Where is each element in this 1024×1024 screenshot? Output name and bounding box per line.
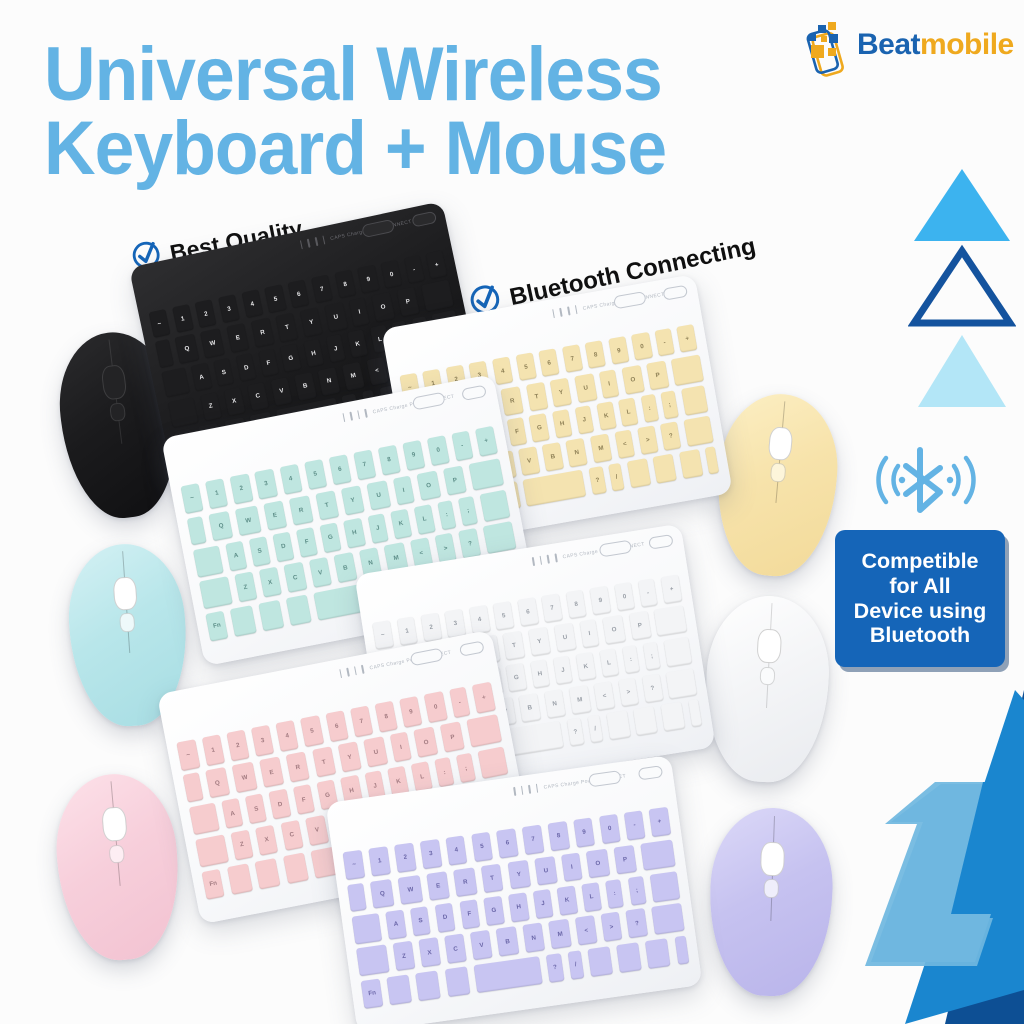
keyboard-key: 7 — [541, 593, 563, 623]
keyboard-key: 0 — [614, 582, 636, 612]
keyboard-key: R — [285, 752, 310, 783]
keyboard-key: Y — [337, 742, 362, 773]
keyboard-key: A — [225, 541, 247, 572]
keyboard-key — [230, 605, 256, 636]
keyboard-key: T — [526, 382, 548, 411]
keyboard-key: B — [294, 372, 317, 401]
keyboard-key: U — [324, 302, 348, 331]
keyboard-key: G — [483, 896, 505, 926]
keyboard-key: L — [599, 648, 619, 677]
keyboard-key: P — [396, 287, 419, 316]
keyboard-key: D — [236, 353, 258, 382]
keyboard-key — [193, 545, 223, 577]
keyboard-key: I — [393, 475, 415, 506]
keyboard-key — [478, 746, 509, 778]
keyboard-key: V — [270, 377, 293, 406]
keyboard-key: F — [296, 527, 318, 557]
keyboard-key: > — [637, 425, 658, 454]
keyboard-key: < — [594, 681, 615, 711]
keyboard-key: : — [434, 757, 454, 787]
keyboard-key — [688, 699, 703, 727]
keyboard-key: 5 — [493, 601, 515, 631]
keyboard-key: 2 — [226, 730, 249, 761]
keyboard-key: G — [280, 343, 302, 372]
keyboard-key — [654, 605, 688, 636]
keyboard-key: 7 — [353, 450, 376, 481]
keyboard-key: C — [280, 820, 304, 851]
keyboard-key: > — [601, 912, 623, 942]
keyboard-key: ; — [643, 642, 662, 671]
keyboard-key: Q — [209, 510, 234, 541]
keyboard-key: V — [518, 446, 540, 475]
keyboard-key — [671, 354, 704, 385]
keyboard-key — [653, 454, 677, 484]
keyboard-key: 1 — [205, 478, 228, 509]
mouse-purple — [707, 806, 835, 998]
keyboard-key: / — [609, 463, 625, 491]
keyboard-key: 7 — [522, 825, 544, 855]
keyboard-key: T — [276, 313, 299, 342]
keyboard-key: M — [568, 685, 591, 715]
keyboard-key: < — [366, 356, 388, 385]
keyboard-key: K — [575, 652, 596, 681]
keyboard-key: - — [624, 811, 645, 841]
keyboard-key: M — [590, 434, 613, 463]
keyboard-key: Y — [341, 485, 365, 516]
keyboard-key — [705, 446, 719, 474]
keyboard-key — [183, 772, 203, 802]
keyboard-key — [606, 711, 631, 741]
keyboard-key: 9 — [399, 696, 422, 727]
keyboard-key: A — [191, 363, 213, 392]
keyboard-key: ; — [661, 390, 679, 419]
keyboard-key: 9 — [608, 336, 629, 365]
keyboard-key: N — [543, 689, 565, 719]
keyboard-key: 3 — [420, 839, 442, 869]
mouse-white — [701, 593, 833, 785]
keyboard-key: + — [426, 250, 448, 279]
keyboard-key: 9 — [590, 586, 612, 616]
keyboard-key: S — [213, 358, 234, 387]
keyboard-key — [416, 970, 442, 1001]
keyboard-key: Y — [528, 627, 551, 657]
keyboard-key: 0 — [424, 692, 447, 723]
keyboard-key: S — [249, 536, 271, 567]
keyboard-key: U — [534, 856, 558, 886]
keyboard-key: D — [434, 903, 455, 933]
keyboard-key: F — [258, 348, 279, 377]
keyboard-key — [616, 942, 642, 973]
keyboard-key: Fn — [205, 611, 228, 642]
keyboard-key: H — [303, 339, 325, 368]
keyboard-key: 3 — [218, 294, 240, 323]
keyboard-key — [286, 594, 312, 625]
keyboard-key — [187, 516, 207, 546]
keyboard-key — [660, 702, 685, 732]
keyboard-key: B — [519, 693, 541, 723]
keyboard-key: ? — [546, 953, 565, 983]
keyboard-key: C — [444, 934, 467, 964]
triangle-outline-dark — [914, 251, 1010, 323]
keyboard-key: S — [410, 906, 431, 936]
keyboard-key: J — [325, 334, 346, 363]
keyboard-key: K — [596, 401, 617, 430]
keyboard-key — [357, 945, 390, 977]
keyboard-key: 4 — [279, 464, 302, 495]
keyboard-key: G — [319, 522, 342, 553]
compatibility-callout-box: Competible for All Device using Bluetoot… — [835, 530, 1005, 667]
keyboard-key — [640, 839, 675, 871]
keyboard-key: J — [533, 889, 553, 919]
triangle-solid-pale — [918, 335, 1006, 407]
keyboard-key: E — [263, 500, 287, 531]
keyboard-key: 5 — [300, 716, 323, 747]
keyboard-key — [645, 938, 671, 969]
keyboard-key: ~ — [343, 850, 365, 880]
keyboard-key: A — [385, 910, 406, 940]
keyboard-key — [587, 946, 613, 977]
keyboard-key: 3 — [255, 469, 278, 500]
keyboard-purple: CAPS Charge Power CONNECT ~1234567890-+Q… — [326, 755, 703, 1024]
keyboard-key: G — [529, 413, 550, 442]
keyboard-key: J — [367, 513, 388, 543]
keyboard-key: 1 — [369, 846, 391, 876]
keyboard-key — [664, 637, 693, 668]
keyboard-key: ~ — [177, 740, 200, 771]
keyboard-key: O — [414, 727, 439, 758]
keyboard-key: 5 — [264, 284, 286, 313]
keyboard-key — [167, 397, 198, 428]
keyboard-key — [155, 339, 174, 368]
keyboard-key: B — [334, 553, 358, 584]
phone-pixels-logo-icon — [795, 12, 861, 78]
keyboard-key: 4 — [445, 835, 467, 865]
keyboard-key: ? — [566, 718, 584, 747]
keyboard-key: C — [283, 562, 307, 593]
keyboard-key: Q — [205, 767, 230, 798]
keyboard-key: ~ — [181, 483, 204, 514]
keyboard-key: T — [503, 631, 526, 661]
keyboard-key — [254, 857, 280, 889]
keyboard-key: 7 — [350, 706, 373, 737]
corner-chevron-decoration — [845, 690, 1024, 1024]
keyboard-key: S — [245, 793, 267, 824]
keyboard-key: W — [398, 875, 423, 906]
keyboard-key: Z — [234, 572, 257, 603]
keyboard-key — [258, 600, 284, 631]
keyboard-key: W — [235, 505, 261, 536]
keyboard-key: O — [416, 470, 441, 501]
keyboard-key: Fn — [202, 868, 225, 899]
keyboard-key: + — [475, 426, 498, 457]
keyboard-key — [679, 449, 703, 479]
keyboard-key: T — [481, 863, 504, 893]
keyboard-key — [352, 913, 382, 944]
keyboard-key: Fn — [361, 978, 383, 1008]
keyboard-key: X — [418, 938, 441, 968]
keyboard-key: F — [459, 899, 480, 929]
keyboard-key — [684, 416, 715, 447]
keyboard-key: M — [342, 361, 366, 390]
keyboard-key: Y — [300, 308, 323, 337]
keyboard-key: X — [255, 825, 278, 856]
keyboard-key — [473, 956, 542, 993]
keyboard-key: N — [522, 923, 545, 953]
keyboard-key: V — [309, 557, 332, 588]
keyboard-key: B — [542, 442, 564, 471]
bluetooth-signal-icon — [858, 442, 994, 518]
keyboard-key: V — [305, 815, 328, 846]
keyboard-key: K — [557, 886, 578, 916]
keyboard-key: 9 — [402, 440, 425, 471]
keyboard-key: G — [506, 663, 527, 692]
keyboard-key: 4 — [241, 289, 263, 318]
triangle-decoration-group — [908, 163, 1016, 413]
keyboard-key: P — [629, 611, 652, 641]
page-title: Universal Wireless Keyboard + Mouse — [44, 38, 702, 187]
mouse-pink — [50, 769, 186, 965]
triangle-solid-bright — [914, 169, 1010, 241]
keyboard-key: R — [453, 867, 477, 897]
keyboard-key: U — [364, 736, 389, 767]
keyboard-key: K — [347, 329, 369, 358]
keyboard-key: : — [622, 645, 641, 674]
keyboard-key: 7 — [562, 344, 583, 373]
keyboard-key: - — [449, 687, 471, 718]
keyboard-key: T — [315, 490, 339, 521]
keyboard-key: E — [226, 323, 249, 352]
keyboard-key: H — [508, 892, 529, 922]
keyboard-key: W — [200, 329, 225, 359]
keyboard-key: 3 — [445, 608, 467, 638]
keyboard-key — [469, 458, 504, 491]
keyboard-key: U — [553, 623, 576, 653]
keyboard-key: O — [602, 615, 626, 645]
keyboard-key: ~ — [148, 309, 170, 338]
keyboard-key — [195, 834, 228, 867]
keyboard-key — [674, 936, 689, 965]
brand-name-part1: Beat — [857, 28, 920, 61]
keyboard-key: 8 — [378, 445, 401, 476]
keyboard-key: + — [661, 574, 683, 604]
keyboard-key: ~ — [372, 620, 394, 650]
keyboard-key: 2 — [195, 299, 217, 328]
keyboard-key: 8 — [334, 269, 356, 298]
keyboard-key: 4 — [492, 356, 513, 385]
keyboard-key: T — [312, 747, 336, 778]
keyboard-key: I — [579, 619, 600, 648]
keyboard-key: 1 — [172, 304, 194, 333]
keyboard-key: O — [586, 848, 610, 878]
keyboard-key — [681, 385, 709, 415]
poster-canvas: CAPS Charge Power CONNECT ~1234567890-+Q… — [0, 0, 1024, 1024]
keyboard-key: X — [259, 567, 282, 598]
keyboard-key: V — [470, 930, 493, 960]
keyboard-key: 7 — [311, 274, 333, 303]
keyboard-key: P — [443, 465, 467, 496]
keyboard-key: Z — [393, 941, 415, 971]
keyboard-key: 8 — [548, 821, 570, 851]
keyboard-key: ; — [458, 496, 478, 526]
keyboard-key: Q — [370, 879, 394, 909]
keyboard-key: 4 — [276, 720, 299, 751]
keyboard-key — [466, 714, 502, 747]
keyboard-key: H — [530, 659, 551, 688]
keyboard-key: L — [411, 761, 433, 792]
keyboard-key: - — [655, 328, 675, 357]
keyboard-key: ? — [642, 673, 664, 703]
keyboard-key: 0 — [599, 814, 621, 844]
keyboard-key: I — [349, 298, 370, 327]
keyboard-key: 5 — [515, 352, 536, 381]
keyboard-key: X — [223, 387, 246, 416]
keyboard-key — [282, 852, 308, 884]
keyboard-key: J — [574, 405, 594, 434]
keyboard-key: R — [251, 318, 275, 347]
keyboard-key: < — [614, 430, 635, 459]
keyboard-key: J — [553, 656, 573, 685]
keyboard-key: : — [605, 879, 624, 909]
brand-name-part2: mobile — [920, 28, 1014, 61]
keyboard-key: 1 — [202, 735, 225, 766]
keyboard-key: 0 — [381, 260, 403, 289]
keyboard-key: R — [501, 386, 524, 415]
keyboard-key: ; — [627, 876, 646, 906]
keyboard-key: / — [587, 715, 603, 744]
keyboard-key: Z — [230, 829, 253, 860]
keyboard-key: B — [496, 927, 519, 957]
keyboard-key: F — [293, 784, 315, 815]
brand-logo: Beatmobile — [795, 12, 1010, 82]
keyboard-key: H — [343, 518, 365, 549]
keyboard-key: ? — [626, 908, 648, 938]
keyboard-key: O — [371, 292, 395, 322]
keyboard-key — [348, 882, 368, 912]
keyboard-key: 8 — [565, 589, 587, 619]
keyboard-key: I — [599, 369, 619, 398]
keyboard-key: 6 — [325, 711, 348, 742]
keyboard-key: A — [221, 798, 243, 829]
keyboard-key: C — [246, 382, 269, 411]
keyboard-key: 6 — [328, 454, 351, 485]
keyboard-key: U — [366, 480, 391, 511]
keyboard-key — [651, 903, 684, 935]
keyboard-key: H — [552, 409, 573, 438]
keyboard-key — [421, 280, 454, 312]
keyboard-key: + — [676, 324, 698, 353]
keyboard-key: F — [507, 417, 527, 446]
keyboard-key: P — [613, 844, 637, 874]
keyboard-key: Z — [200, 392, 222, 421]
keyboard-key — [199, 577, 232, 610]
keyboard-key — [189, 803, 220, 835]
keyboard-key: W — [232, 762, 258, 794]
keyboard-key: M — [548, 919, 572, 949]
brand-name: Beatmobile — [857, 28, 1014, 62]
keyboard-key — [387, 974, 413, 1005]
keyboard-key: N — [318, 366, 341, 395]
keyboard-key: - — [404, 255, 425, 284]
keyboard-key — [480, 490, 510, 522]
keyboard-key: E — [426, 871, 450, 901]
keyboard-key: 3 — [251, 725, 274, 756]
keyboard-key: : — [640, 394, 658, 423]
keyboard-key: < — [575, 916, 597, 946]
keyboard-key — [161, 367, 190, 398]
keyboard-key: P — [440, 722, 465, 753]
keyboard-key: L — [618, 397, 638, 426]
keyboard-key: Q — [175, 334, 199, 364]
keyboard-key: - — [451, 431, 473, 462]
keyboard-key: N — [566, 438, 588, 467]
keyboard-key: 2 — [230, 473, 253, 504]
keyboard-key: I — [561, 852, 582, 882]
keyboard-key: + — [648, 807, 670, 837]
keyboard-key: 1 — [396, 616, 418, 646]
keyboard-key: E — [259, 757, 284, 788]
keyboard-key — [650, 871, 680, 902]
keyboard-key: D — [269, 789, 291, 820]
keyboard-key: 9 — [573, 818, 595, 848]
keyboard-key: 2 — [394, 843, 416, 873]
keyboard-key: 5 — [304, 459, 327, 490]
keyboard-key: L — [581, 882, 602, 912]
keyboard-key: : — [437, 500, 457, 530]
keyboard-key: K — [390, 509, 412, 540]
keyboard-key: Y — [550, 378, 573, 407]
keyboard-key: 9 — [357, 265, 379, 294]
keyboard-key — [666, 668, 698, 699]
keyboard-key: I — [390, 732, 412, 763]
keyboard-key: / — [568, 950, 584, 979]
keyboard-key: 5 — [471, 832, 493, 862]
keyboard-key: - — [638, 578, 658, 607]
keyboard-key — [444, 966, 470, 997]
keyboard-key: ? — [660, 421, 681, 450]
keyboard-key: L — [414, 504, 436, 534]
keyboard-key: P — [646, 360, 669, 389]
keyboard-key: 2 — [420, 612, 442, 642]
keyboard-key: 0 — [427, 435, 450, 466]
keyboard-key: + — [472, 682, 495, 713]
keyboard-key — [627, 458, 651, 488]
keyboard-key: 6 — [288, 279, 310, 308]
keyboard-key: 0 — [631, 332, 652, 361]
keyboard-key: O — [621, 365, 644, 395]
keyboard-key — [633, 706, 658, 736]
keyboard-key — [226, 863, 252, 895]
keyboard-key: Y — [507, 859, 531, 889]
keyboard-key: ; — [456, 753, 476, 783]
keyboard-key: D — [272, 532, 294, 563]
keyboard-key: 6 — [517, 597, 539, 627]
keyboard-key: ? — [589, 466, 607, 495]
keyboard-key: 6 — [496, 828, 518, 858]
keyboard-key: U — [574, 373, 597, 402]
keyboard-key — [523, 470, 587, 507]
keyboard-key: 8 — [375, 701, 398, 732]
keyboard-key: > — [618, 677, 639, 707]
keyboard-key: 8 — [585, 340, 606, 369]
keyboard-key: 6 — [538, 348, 559, 377]
keyboard-key: R — [289, 495, 314, 526]
